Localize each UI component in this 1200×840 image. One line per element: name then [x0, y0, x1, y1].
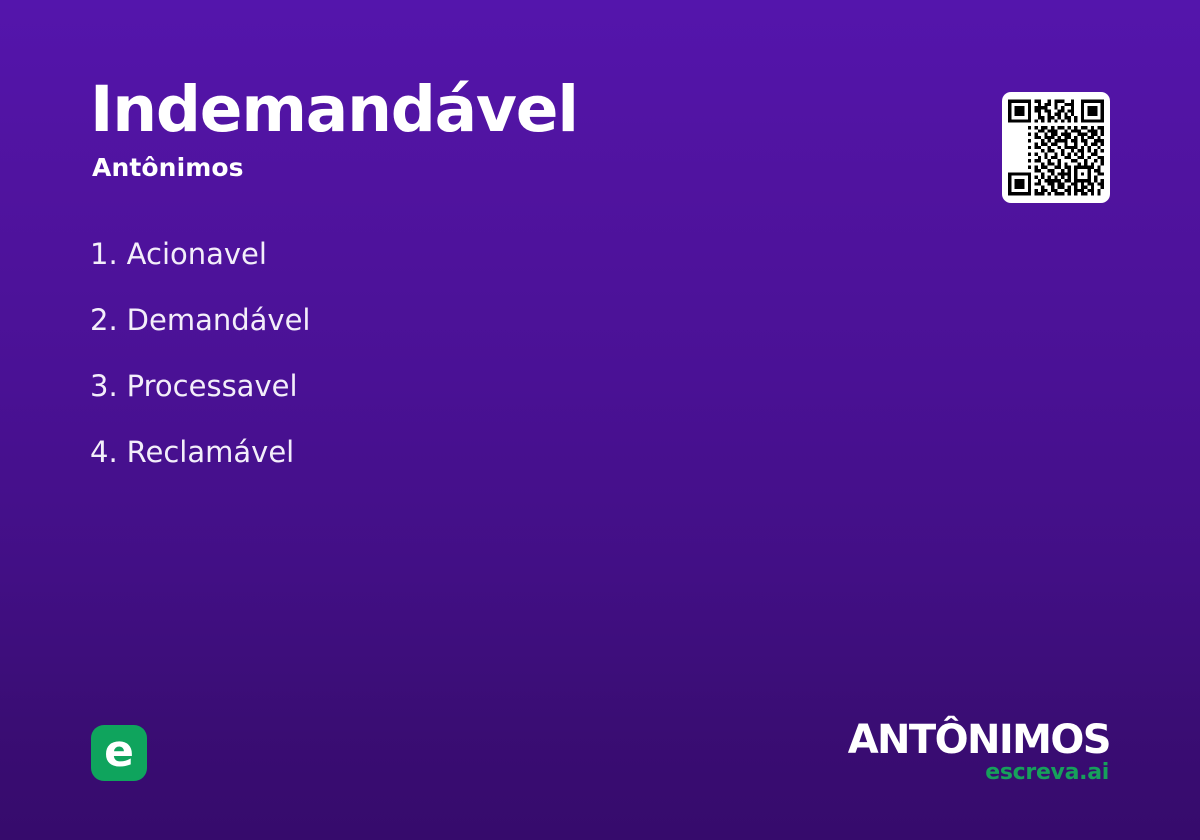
antonyms-share-card: Indemandável Antônimos 1. Acionavel 2. D…: [0, 0, 1200, 840]
qr-code-card[interactable]: [1002, 92, 1110, 203]
qr-code-icon: [1008, 99, 1104, 196]
wordmark-primary: ANTÔNIMOS: [848, 720, 1110, 760]
list-item: 2. Demandável: [90, 302, 910, 368]
brand-mark-letter: e: [104, 730, 134, 774]
escreva-logo-icon[interactable]: e: [91, 725, 147, 781]
list-item: 1. Acionavel: [90, 236, 910, 302]
list-item-term: Demandável: [127, 302, 311, 338]
list-item-term: Acionavel: [127, 236, 267, 272]
wordmark-secondary: escreva.ai: [848, 762, 1109, 784]
list-item: 3. Processavel: [90, 368, 910, 434]
brand-wordmark: ANTÔNIMOS escreva.ai: [848, 720, 1110, 784]
list-item-index: 2.: [90, 302, 118, 338]
list-item-term: Reclamável: [127, 434, 295, 470]
heading-block: Indemandável Antônimos: [90, 78, 890, 180]
list-item: 4. Reclamável: [90, 434, 910, 500]
list-item-index: 1.: [90, 236, 118, 272]
section-subtitle: Antônimos: [92, 155, 890, 180]
list-item-index: 3.: [90, 368, 118, 404]
page-title: Indemandável: [90, 78, 890, 141]
list-item-term: Processavel: [127, 368, 298, 404]
list-item-index: 4.: [90, 434, 118, 470]
antonym-list: 1. Acionavel 2. Demandável 3. Processave…: [90, 236, 910, 500]
